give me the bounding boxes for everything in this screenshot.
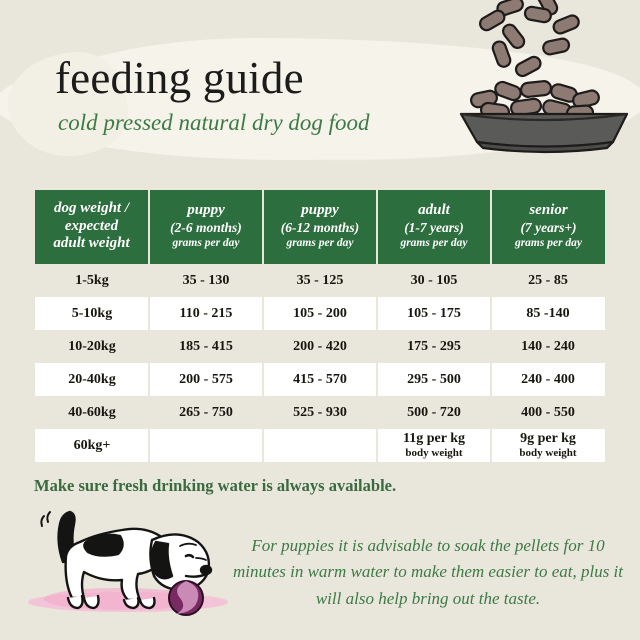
tail-wag-marks-icon	[41, 512, 50, 526]
table-row: 60kg+ 11g per kg body weight 9g per kg b…	[35, 429, 605, 462]
cell-puppy-2-6: 35 - 130	[149, 264, 263, 297]
cell-puppy-6-12: 105 - 200	[263, 297, 377, 330]
cell-senior: 240 - 400	[491, 363, 605, 396]
header-units: grams per day	[495, 237, 602, 251]
cell-senior: 25 - 85	[491, 264, 605, 297]
cell-value-note: body weight	[378, 447, 490, 459]
cell-weight: 5-10kg	[35, 297, 149, 330]
ball-icon	[169, 581, 203, 615]
header-line-1: dog weight /	[38, 200, 145, 218]
cell-adult: 500 - 720	[377, 396, 491, 429]
header-line-3: adult weight	[38, 235, 145, 253]
cell-puppy-6-12: 35 - 125	[263, 264, 377, 297]
cell-weight: 10-20kg	[35, 330, 149, 363]
cell-senior: 400 - 550	[491, 396, 605, 429]
table-row: 40-60kg 265 - 750 525 - 930 500 - 720 40…	[35, 396, 605, 429]
cell-weight: 20-40kg	[35, 363, 149, 396]
cell-puppy-6-12	[263, 429, 377, 462]
cell-weight: 60kg+	[35, 429, 149, 462]
header-line-1: senior	[495, 202, 602, 220]
cell-adult: 11g per kg body weight	[377, 429, 491, 462]
header-line-1: puppy	[267, 202, 373, 220]
header-line-2: (6-12 months)	[267, 220, 373, 236]
table-row: 10-20kg 185 - 415 200 - 420 175 - 295 14…	[35, 330, 605, 363]
column-header-puppy-6-12: puppy (6-12 months) grams per day	[263, 190, 377, 264]
table-header-row: dog weight / expected adult weight puppy…	[35, 190, 605, 264]
column-header-dog-weight: dog weight / expected adult weight	[35, 190, 149, 264]
cell-weight: 1-5kg	[35, 264, 149, 297]
cell-weight: 40-60kg	[35, 396, 149, 429]
cell-adult: 295 - 500	[377, 363, 491, 396]
header-units: grams per day	[153, 237, 259, 251]
header-line-2: (2-6 months)	[153, 220, 259, 236]
header-line-1: adult	[381, 202, 487, 220]
table-row: 5-10kg 110 - 215 105 - 200 105 - 175 85 …	[35, 297, 605, 330]
cell-puppy-6-12: 415 - 570	[263, 363, 377, 396]
cell-puppy-2-6: 185 - 415	[149, 330, 263, 363]
dog-food-bowl-illustration	[455, 0, 640, 156]
nose-icon	[201, 566, 211, 574]
header-line-1: puppy	[153, 202, 259, 220]
cell-senior: 140 - 240	[491, 330, 605, 363]
column-header-adult: adult (1-7 years) grams per day	[377, 190, 491, 264]
cell-puppy-2-6: 110 - 215	[149, 297, 263, 330]
page-subtitle: cold pressed natural dry dog food	[58, 110, 370, 136]
cell-value-note: body weight	[492, 447, 604, 459]
cell-adult: 175 - 295	[377, 330, 491, 363]
hind-paw-2-icon	[84, 596, 99, 608]
cell-puppy-2-6: 200 - 575	[149, 363, 263, 396]
fresh-water-note: Make sure fresh drinking water is always…	[34, 476, 396, 496]
falling-kibble-icon	[478, 0, 581, 78]
cell-senior: 9g per kg body weight	[491, 429, 605, 462]
hind-paw-icon	[68, 596, 83, 608]
cell-value: 11g per kg	[378, 432, 490, 447]
table-row: 20-40kg 200 - 575 415 - 570 295 - 500 24…	[35, 363, 605, 396]
column-header-senior: senior (7 years+) grams per day	[491, 190, 605, 264]
cell-value: 9g per kg	[492, 432, 604, 447]
column-header-puppy-2-6: puppy (2-6 months) grams per day	[149, 190, 263, 264]
cell-adult: 30 - 105	[377, 264, 491, 297]
feeding-guide-table: dog weight / expected adult weight puppy…	[34, 190, 606, 462]
cell-puppy-6-12: 525 - 930	[263, 396, 377, 429]
table-row: 1-5kg 35 - 130 35 - 125 30 - 105 25 - 85	[35, 264, 605, 297]
header-line-2: (7 years+)	[495, 220, 602, 236]
cell-puppy-6-12: 200 - 420	[263, 330, 377, 363]
cell-senior: 85 -140	[491, 297, 605, 330]
page-title: feeding guide	[55, 52, 304, 104]
header-units: grams per day	[381, 237, 487, 251]
header-line-2: (1-7 years)	[381, 220, 487, 236]
header-line-2: expected	[38, 218, 145, 236]
header-units: grams per day	[267, 237, 373, 251]
cell-puppy-2-6: 265 - 750	[149, 396, 263, 429]
cell-puppy-2-6	[149, 429, 263, 462]
puppy-soaking-tip: For puppies it is advisable to soak the …	[228, 533, 628, 612]
cell-adult: 105 - 175	[377, 297, 491, 330]
puppy-illustration	[20, 498, 240, 618]
front-paw-icon	[140, 598, 155, 608]
